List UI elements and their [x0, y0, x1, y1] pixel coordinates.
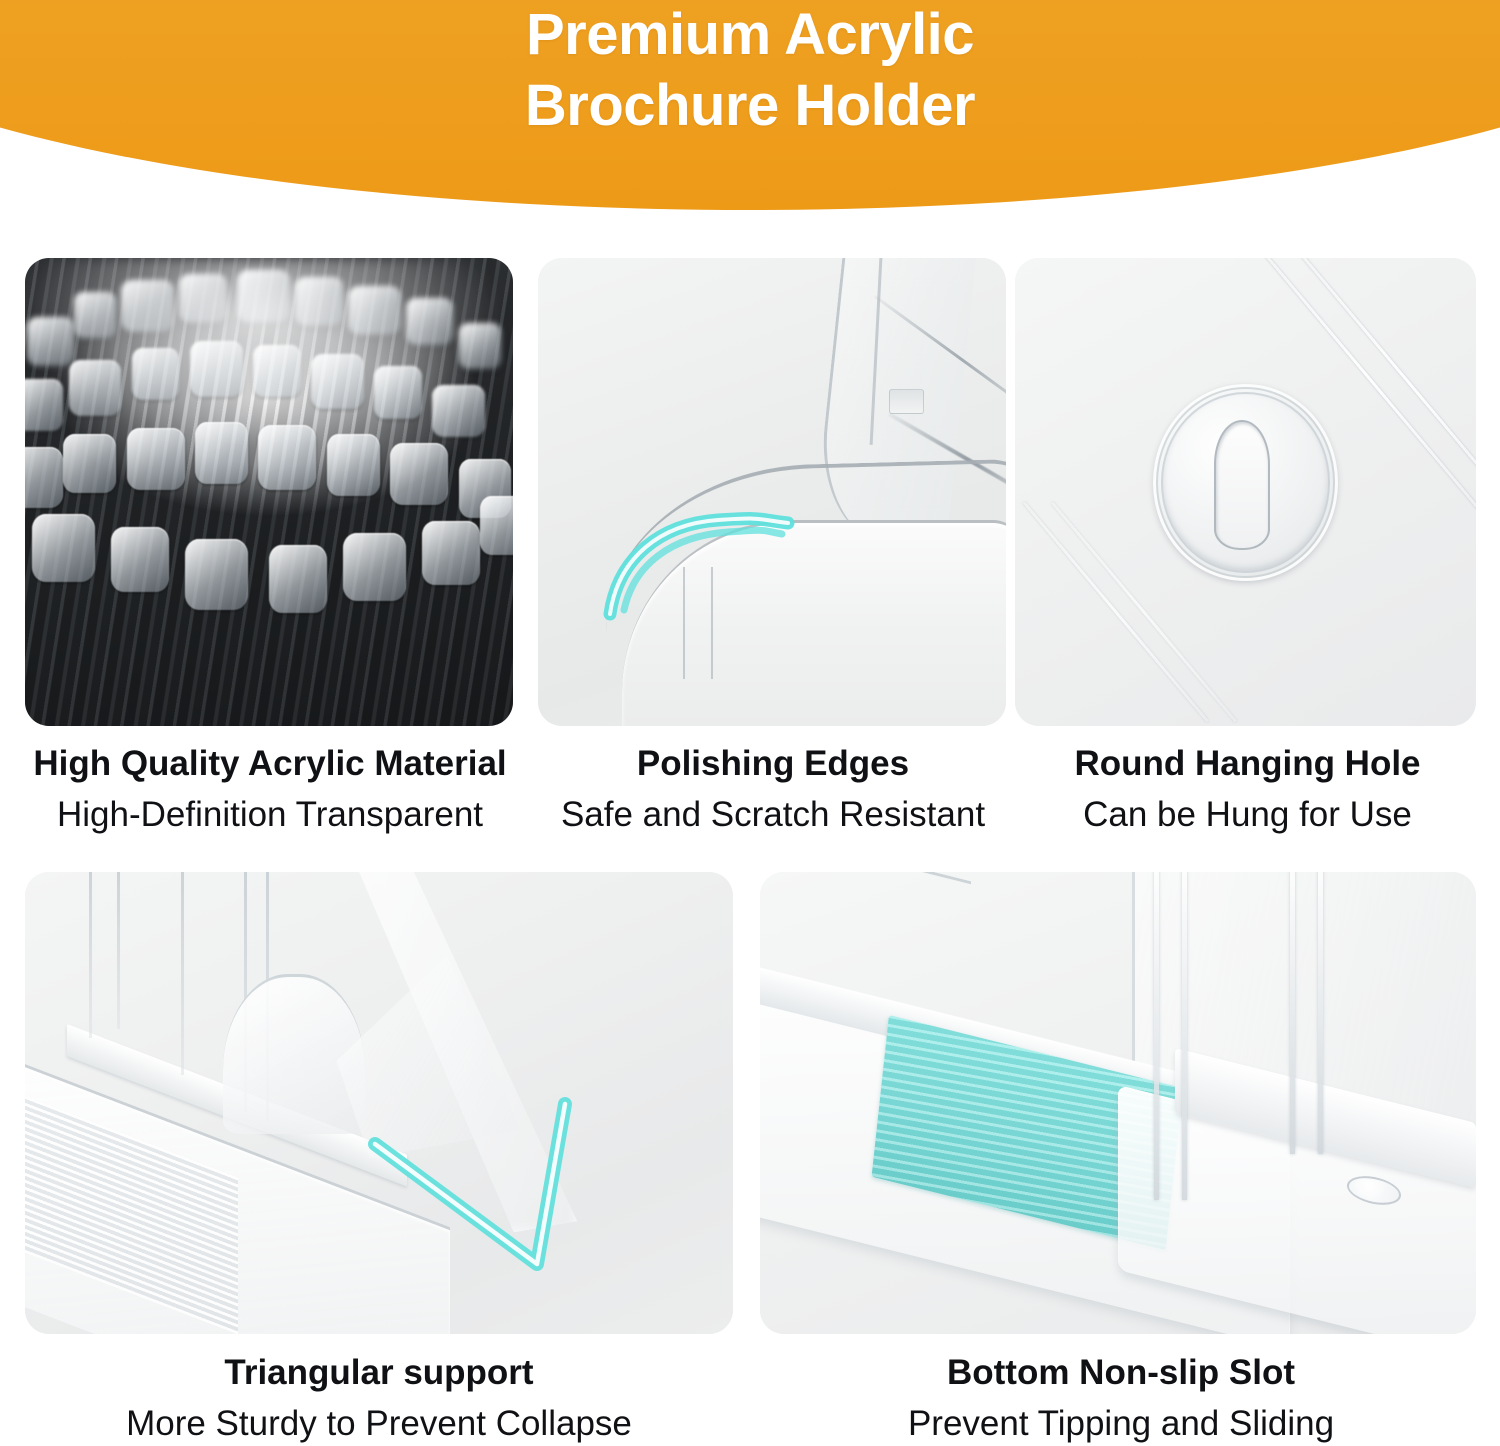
feature-title: Triangular support: [0, 1352, 758, 1394]
feature-image-polishing-edges: [538, 258, 1006, 726]
feature-image-non-slip-slot: [760, 872, 1476, 1334]
feature-subtitle: Safe and Scratch Resistant: [513, 794, 1033, 837]
feature-caption-hanging-hole: Round Hanging Hole Can be Hung for Use: [995, 743, 1500, 837]
infographic-page: Premium Acrylic Brochure Holder: [0, 0, 1500, 1446]
feature-title: Polishing Edges: [513, 743, 1033, 785]
page-title: Premium Acrylic Brochure Holder: [0, 0, 1500, 142]
non-slip-slot-photo: [760, 872, 1476, 1334]
feature-row-bottom: Triangular support More Sturdy to Preven…: [0, 872, 1500, 1446]
upper-acrylic-bracket: [760, 872, 971, 976]
cyan-triangle-highlight: [25, 872, 733, 1334]
page-title-line-2: Brochure Holder: [0, 71, 1500, 142]
acrylic-post-2: [1182, 872, 1187, 1200]
feature-caption-polishing-edges: Polishing Edges Safe and Scratch Resista…: [513, 743, 1033, 837]
feature-image-acrylic-material: [25, 258, 513, 726]
feature-subtitle: High-Definition Transparent: [0, 794, 560, 837]
round-hole-recess: [1153, 384, 1337, 581]
feature-subtitle: Can be Hung for Use: [995, 794, 1500, 837]
cyan-edge-highlight-arc: [538, 258, 1006, 726]
feature-caption-acrylic-material: High Quality Acrylic Material High-Defin…: [0, 743, 560, 837]
feature-image-hanging-hole: [1015, 258, 1476, 726]
page-title-line-1: Premium Acrylic: [0, 0, 1500, 71]
feature-caption-triangular-support: Triangular support More Sturdy to Preven…: [0, 1352, 758, 1446]
acrylic-post-4: [1318, 872, 1323, 1154]
feature-subtitle: More Sturdy to Prevent Collapse: [0, 1403, 758, 1446]
feature-title: Bottom Non-slip Slot: [742, 1352, 1500, 1394]
feature-caption-non-slip-slot: Bottom Non-slip Slot Prevent Tipping and…: [742, 1352, 1500, 1446]
polished-edge-photo: [538, 258, 1006, 726]
keyhole-opening: [1214, 420, 1270, 550]
triangular-support-photo: [25, 872, 733, 1334]
feature-image-triangular-support: [25, 872, 733, 1334]
acrylic-post-1: [1154, 872, 1159, 1200]
feature-title: Round Hanging Hole: [995, 743, 1500, 785]
feature-title: High Quality Acrylic Material: [0, 743, 560, 785]
acrylic-post-3: [1290, 872, 1295, 1154]
hanging-hole-photo: [1015, 258, 1476, 726]
photo-highlight-haze: [25, 258, 513, 492]
pellets-photo: [25, 258, 513, 726]
feature-row-top: High Quality Acrylic Material High-Defin…: [0, 258, 1500, 858]
header-banner: Premium Acrylic Brochure Holder: [0, 0, 1500, 210]
feature-subtitle: Prevent Tipping and Sliding: [742, 1403, 1500, 1446]
